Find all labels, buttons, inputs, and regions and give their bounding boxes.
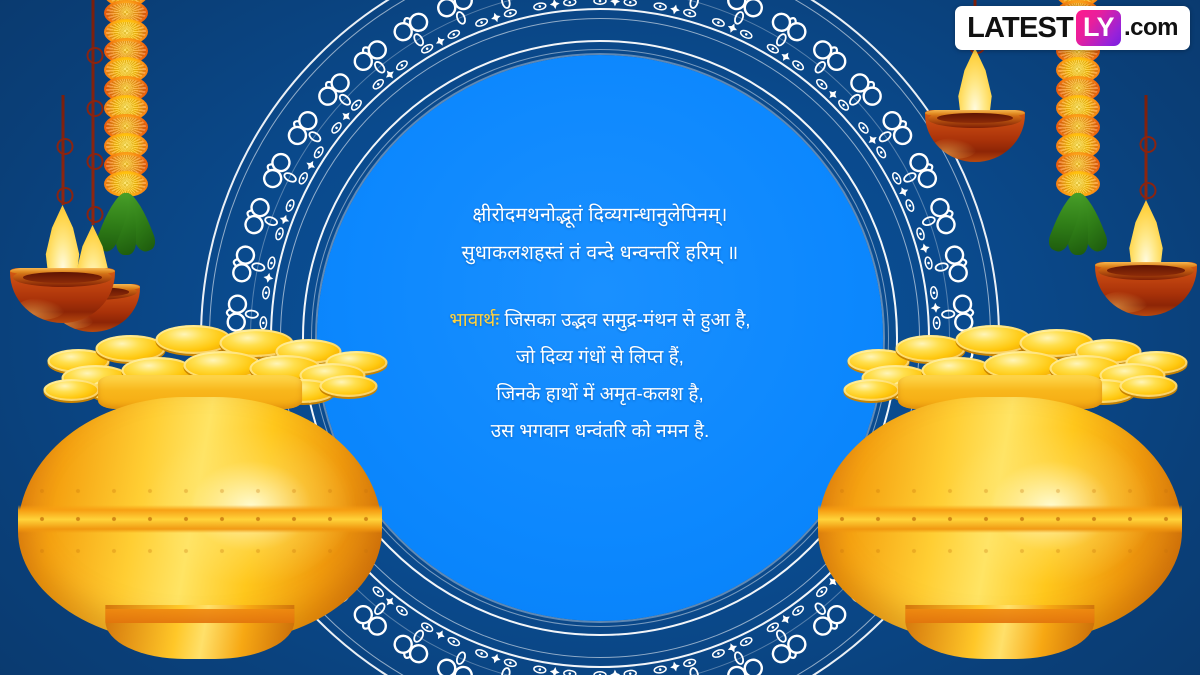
meaning-line-3: जिनके हाथों में अमृत-कलश है, [320,376,880,413]
diya-bowl [925,110,1025,162]
pot-dot-pattern-upper [818,477,1182,505]
diya-lamp [925,48,1025,162]
shloka-line-1: क्षीरोदमथनोद्भूतं दिव्यगन्धानुलेपिनम्। [320,196,880,234]
pot-decor-band-upper [18,477,382,505]
chain-bead [56,187,73,204]
pot-decor-band [818,505,1182,533]
diya-highlight [931,138,977,159]
pot-decor-band-lower [18,537,382,565]
chain-bead [56,138,73,155]
diya-hanging-chain [1145,95,1148,200]
gold-pot-right [818,305,1182,675]
gold-coin [319,375,377,397]
gold-pot-left [18,305,382,675]
shloka: क्षीरोदमथनोद्भूतं दिव्यगन्धानुलेपिनम्। स… [320,196,880,272]
gold-coin [1119,375,1177,397]
gold-coin [43,379,99,401]
diya-rim [925,110,1025,118]
pot-dot-pattern-lower [818,537,1182,565]
pot-decor-band-upper [818,477,1182,505]
diya-rim [10,268,115,276]
greeting-card: क्षीरोदमथनोद्भूतं दिव्यगन्धानुलेपिनम्। स… [0,0,1200,675]
pot-dot-pattern [818,505,1182,533]
shloka-line-2: सुधाकलशहस्तं तं वन्दे धन्वन्तरिं हरिम् ॥ [320,234,880,272]
greeting-text-block: क्षीरोदमथनोद्भूतं दिव्यगन्धानुलेपिनम्। स… [320,196,880,450]
pot-base [905,605,1094,659]
gold-coin [843,379,899,401]
meaning-line-4: उस भगवान धन्वंतरि को नमन है. [320,413,880,450]
meaning-label: भावार्थः [449,310,499,331]
logo-suffix: .com [1124,14,1178,42]
pot-dot-pattern [18,505,382,533]
meaning: भावार्थः जिसका उद्भव समुद्र-मंथन से हुआ … [320,302,880,450]
pot-dot-pattern-upper [18,477,382,505]
diya-mid-left [10,95,115,323]
latestly-logo[interactable]: LATEST LY .com [955,6,1190,50]
diya-hanging-chain [61,95,64,205]
chain-bead [1140,136,1157,153]
pot-base [105,605,294,659]
chain-bead [86,47,103,64]
logo-badge: LY [1076,10,1121,46]
meaning-line-2: जो दिव्य गंधों से लिप्त हैं, [320,339,880,376]
pot-decor-band-lower [818,537,1182,565]
diya-rim [1095,262,1197,270]
gold-coins-heap [843,305,1156,383]
meaning-line-1: भावार्थः जिसका उद्भव समुद्र-मंथन से हुआ … [320,302,880,339]
diya-lamp [1095,200,1197,316]
chain-bead [1140,182,1157,199]
diya-mid-right [1095,95,1197,316]
garland-leaves [1056,193,1100,263]
gold-coins-heap [43,305,356,383]
pot-dot-pattern-lower [18,537,382,565]
pot-base-band [905,609,1094,623]
meaning-line-1-text: जिसका उद्भव समुद्र-मंथन से हुआ है, [499,310,750,331]
logo-wordmark: LATEST [967,12,1073,45]
pot-base-band [105,609,294,623]
pot-decor-band [18,505,382,533]
